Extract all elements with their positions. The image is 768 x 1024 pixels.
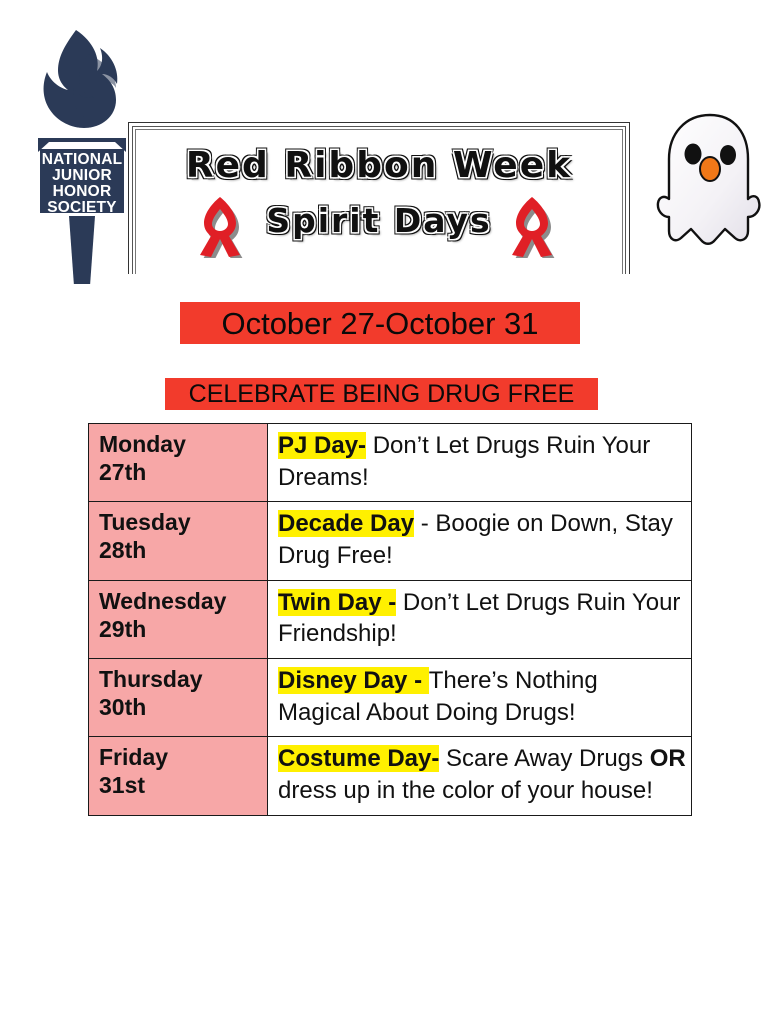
day-number: 30th [99,693,259,721]
date-range-banner: October 27-October 31 [180,302,580,344]
njhs-line-2: JUNIOR [52,167,112,184]
day-cell-tuesday: Tuesday 28th [89,502,268,580]
activity-highlight: Twin Day - [278,589,396,616]
red-ribbon-icon-right [508,192,556,258]
ghost-mouth [700,157,720,181]
day-number: 31st [99,771,259,799]
table-row: Thursday 30th Disney Day - There’s Nothi… [89,659,692,737]
day-cell-thursday: Thursday 30th [89,659,268,737]
njhs-logo: NATIONAL JUNIOR HONOR SOCIETY [18,24,138,284]
table-row: Tuesday 28th Decade Day - Boogie on Down… [89,502,692,580]
activity-highlight: Costume Day- [278,745,439,772]
activity-highlight: Decade Day [278,510,414,537]
day-number: 29th [99,615,259,643]
activity-cell-wednesday: Twin Day - Don’t Let Drugs Ruin Your Fri… [268,580,692,658]
celebrate-banner: CELEBRATE BEING DRUG FREE [165,378,598,410]
day-cell-monday: Monday 27th [89,424,268,502]
activity-text-b: dress up in the color of your house! [278,777,653,804]
day-name: Tuesday [99,508,259,536]
ghost-icon [655,107,765,257]
day-number: 28th [99,536,259,564]
activity-cell-friday: Costume Day- Scare Away Drugs OR dress u… [268,737,692,815]
banner-title-line-1: Red Ribbon Week [129,145,629,186]
day-name: Wednesday [99,587,259,615]
day-name: Friday [99,743,259,771]
njhs-line-3: HONOR [53,183,112,200]
activity-text-a: Scare Away Drugs [439,745,649,772]
ghost-eye-right [720,145,736,165]
activity-bold-word: OR [650,745,686,772]
njhs-line-1: NATIONAL [42,151,123,168]
activity-highlight: Disney Day - [278,667,429,694]
activity-cell-monday: PJ Day- Don’t Let Drugs Ruin Your Dreams… [268,424,692,502]
day-cell-wednesday: Wednesday 29th [89,580,268,658]
njhs-line-4: SOCIETY [47,199,117,216]
ghost-eye-left [685,144,702,165]
red-ribbon-icon-left [196,192,244,258]
day-number: 27th [99,458,259,486]
celebrate-text: CELEBRATE BEING DRUG FREE [189,382,575,407]
day-cell-friday: Friday 31st [89,737,268,815]
activity-cell-tuesday: Decade Day - Boogie on Down, Stay Drug F… [268,502,692,580]
day-name: Thursday [99,665,259,693]
table-row: Wednesday 29th Twin Day - Don’t Let Drug… [89,580,692,658]
day-name: Monday [99,430,259,458]
spirit-days-table: Monday 27th PJ Day- Don’t Let Drugs Ruin… [88,423,692,816]
date-range-text: October 27-October 31 [221,308,538,339]
table-row: Monday 27th PJ Day- Don’t Let Drugs Ruin… [89,424,692,502]
table-row: Friday 31st Costume Day- Scare Away Drug… [89,737,692,815]
activity-cell-thursday: Disney Day - There’s Nothing Magical Abo… [268,659,692,737]
activity-highlight: PJ Day- [278,432,366,459]
